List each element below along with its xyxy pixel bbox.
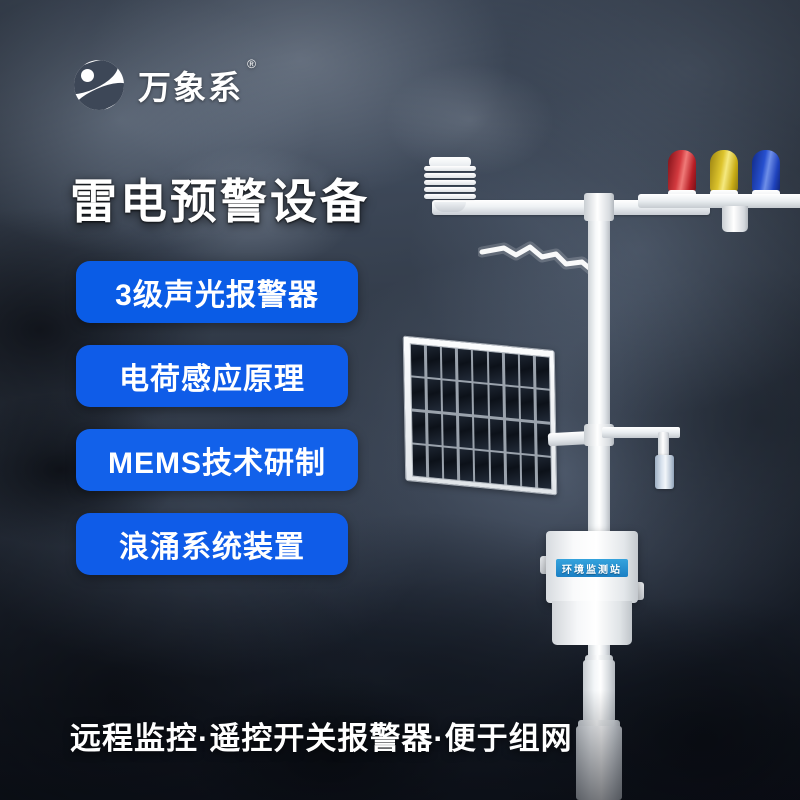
brand-circle-logo-icon [74, 60, 124, 110]
page-title: 雷电预警设备 [70, 163, 370, 232]
registered-mark: ® [247, 57, 258, 71]
feature-pill-4[interactable]: 浪涌系统装置 [76, 513, 348, 575]
brand-name: 万象系 ® [138, 61, 243, 109]
feature-pill-1[interactable]: 3级声光报警器 [76, 261, 358, 323]
brand-logo: 万象系 ® [74, 60, 243, 110]
feature-pill-3[interactable]: MEMS技术研制 [76, 429, 358, 491]
poster-root: 环境监测站 万象系 ® 雷电预警设备 3级声光报警器 电荷感应原理 MEMS技术… [0, 0, 800, 800]
feature-pill-2[interactable]: 电荷感应原理 [76, 345, 348, 407]
bottom-tagline: 远程监控·遥控开关报警器·便于组网 [70, 713, 573, 758]
brand-name-text: 万象系 [138, 69, 243, 106]
feature-pill-list: 3级声光报警器 电荷感应原理 MEMS技术研制 浪涌系统装置 [76, 261, 358, 575]
